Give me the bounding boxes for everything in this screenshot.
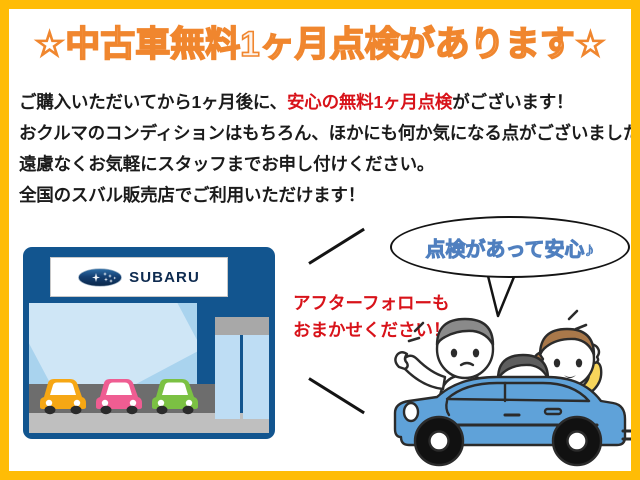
bracket-line-top (308, 228, 365, 265)
body-line-1-part-a: ご購入いただいてから1ヶ月後に、 (19, 92, 287, 112)
body-line-1: ご購入いただいてから1ヶ月後に、安心の無料1ヶ月点検がございます！ (19, 89, 573, 114)
speech-balloon: 点検があって安心♪ (390, 216, 630, 278)
showroom-car-orange (37, 373, 89, 415)
entrance-header (215, 317, 269, 335)
dealership-illustration: SUBARU (23, 247, 275, 439)
poster-canvas: ☆中古車無料1ヶ月点検があります☆ ご購入いただいてから1ヶ月後に、安心の無料1… (9, 9, 631, 471)
showroom-car-pink (93, 373, 145, 415)
body-line-1-highlight: 安心の無料1ヶ月点検 (287, 92, 452, 112)
subaru-wordmark: SUBARU (129, 269, 200, 286)
poster-frame: ☆中古車無料1ヶ月点検があります☆ ご購入いただいてから1ヶ月後に、安心の無料1… (0, 0, 640, 480)
showroom-car-green (149, 373, 201, 415)
subaru-logo-icon (78, 268, 122, 287)
dealership-sign: SUBARU (50, 257, 228, 297)
speech-balloon-text: 点検があって安心♪ (390, 216, 630, 278)
blue-family-car (395, 377, 625, 465)
entrance-door-left (215, 335, 240, 419)
dealership-entrance (215, 317, 269, 419)
body-line-2: おクルマのコンディションはもちろん、ほかにも何か気になる点がございましたら (19, 120, 631, 145)
bracket-line-bottom (308, 377, 365, 414)
body-line-4: 全国のスバル販売店でご利用いただけます！ (19, 182, 365, 207)
body-line-1-part-b: がございます！ (452, 92, 573, 112)
body-line-3: 遠慮なくお気軽にスタッフまでお申し付けください。 (19, 151, 434, 176)
entrance-door-right (243, 335, 269, 419)
page-title: ☆中古車無料1ヶ月点検があります☆ (9, 27, 631, 62)
family-in-car-illustration (387, 297, 631, 471)
